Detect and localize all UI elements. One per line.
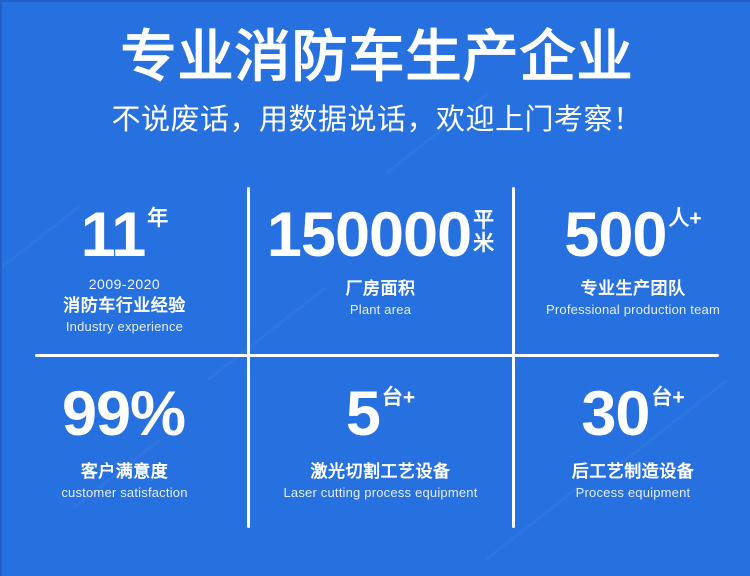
divider-vertical-left [247,187,250,528]
stat-number: 150000 [267,200,471,270]
stat-label-cn: 后工艺制造设备 [572,461,695,483]
stat-number: 30 [581,379,649,449]
stat-value-group: 11 年 [81,200,169,274]
stat-label-en: Process equipment [576,484,691,502]
sub-title: 不说废话，用数据说话，欢迎上门考察！ [2,87,750,138]
stat-number: 5 [346,379,380,449]
banner-header: 专业消防车生产企业 不说废话，用数据说话，欢迎上门考察！ [2,2,750,138]
stat-label-en: Professional production team [546,301,720,319]
stat-value-group: 30 台+ [581,379,684,451]
stat-unit: 平 米 [471,200,494,255]
stat-value-group: 5 台+ [346,379,415,451]
stat-value-group: 500 人+ [564,200,701,274]
stat-number: 11 [81,200,146,270]
stat-label-cn: 激光切割工艺设备 [311,461,451,483]
stat-label-en: Plant area [350,301,411,319]
stat-unit: 年 [145,200,168,229]
stat-label-en: Industry experience [66,318,183,336]
stat-unit: 台+ [649,379,684,408]
stat-unit: 人+ [666,200,701,229]
stat-cell-process-equipment: 30 台+ 后工艺制造设备 Process equipment [514,355,750,530]
divider-horizontal [35,354,719,357]
stat-label-cn: 厂房面积 [346,278,416,300]
stat-cell-laser-cutting-equipment: 5 台+ 激光切割工艺设备 Laser cutting process equi… [247,355,514,530]
stat-number: 500 [564,200,666,270]
stat-label-en: customer satisfaction [61,484,187,502]
promo-banner: 专业消防车生产企业 不说废话，用数据说话，欢迎上门考察！ 11 年 2009-2… [0,0,750,576]
stat-number: 99% [62,379,185,449]
stat-label-cn: 专业生产团队 [581,278,686,300]
stat-unit: 台+ [380,379,415,408]
stat-cell-production-team: 500 人+ 专业生产团队 Professional production te… [514,180,750,355]
stat-value-group: 150000 平 米 [267,200,494,274]
stats-row-bottom: 99% 客户满意度 customer satisfaction 5 台+ 激光切… [2,355,750,530]
stat-cell-plant-area: 150000 平 米 厂房面积 Plant area [247,180,514,355]
divider-vertical-right [512,187,515,528]
main-title: 专业消防车生产企业 [2,2,750,87]
stat-label-en: Laser cutting process equipment [283,484,477,502]
stat-cell-industry-experience: 11 年 2009-2020 消防车行业经验 Industry experien… [2,180,247,355]
stat-cell-customer-satisfaction: 99% 客户满意度 customer satisfaction [2,355,247,530]
stat-value-group: 99% [62,379,187,451]
stat-unit [185,379,187,387]
stat-note: 2009-2020 [89,276,160,293]
stat-label-cn: 客户满意度 [81,461,169,483]
stat-label-cn: 消防车行业经验 [63,295,186,317]
stats-row-top: 11 年 2009-2020 消防车行业经验 Industry experien… [2,180,750,355]
